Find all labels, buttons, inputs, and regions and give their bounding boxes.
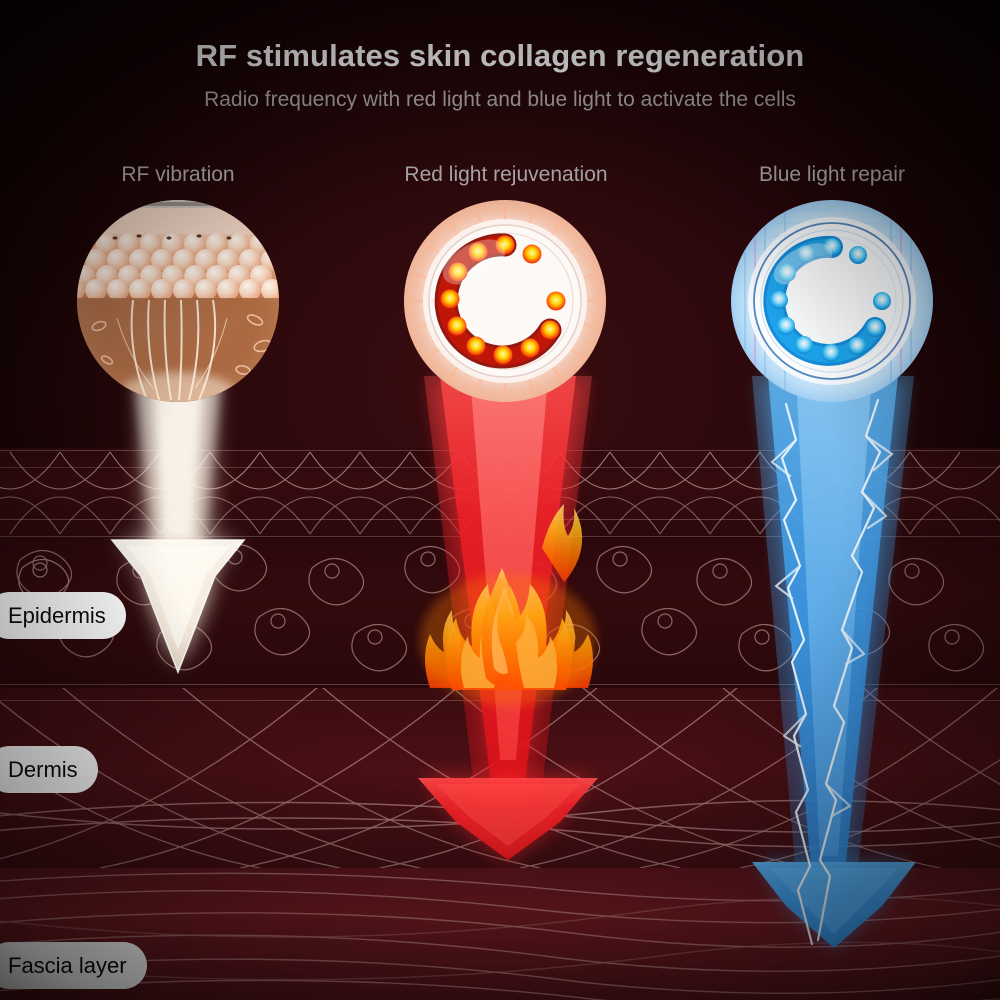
skin-layer-dermis <box>0 688 1000 868</box>
red-light-image <box>404 200 606 402</box>
fascia-wave-pattern <box>0 868 1000 1000</box>
rf-vibration-image <box>77 200 279 402</box>
epidermis-cell-pattern <box>0 538 1000 688</box>
column-label-rf: RF vibration <box>28 163 328 187</box>
column-label-blue: Blue light repair <box>682 163 982 187</box>
blue-led-ring-detail <box>731 200 933 402</box>
layer-label-dermis: Dermis <box>0 746 98 793</box>
infographic-canvas: RF stimulates skin collagen regeneration… <box>0 0 1000 1000</box>
layer-divider-1 <box>0 450 1000 451</box>
blue-light-image <box>731 200 933 402</box>
mesh-lattice-pattern <box>0 448 1000 538</box>
skin-layer-epidermis <box>0 538 1000 688</box>
skin-cross-section-detail <box>77 200 279 402</box>
red-led-ring-detail <box>404 200 606 402</box>
layer-divider-2 <box>0 467 1000 468</box>
page-title: RF stimulates skin collagen regeneration <box>0 38 1000 74</box>
skin-layer-mesh <box>0 448 1000 538</box>
column-label-red: Red light rejuvenation <box>356 163 656 187</box>
page-subtitle: Radio frequency with red light and blue … <box>0 88 1000 112</box>
layer-divider-5 <box>0 684 1000 685</box>
skin-layer-fascia <box>0 868 1000 1000</box>
layer-divider-6 <box>0 700 1000 701</box>
layer-divider-4 <box>0 536 1000 537</box>
dermis-arc-pattern <box>0 688 1000 868</box>
layer-label-fascia: Fascia layer <box>0 942 147 989</box>
layer-divider-3 <box>0 519 1000 520</box>
layer-label-epidermis: Epidermis <box>0 592 126 639</box>
